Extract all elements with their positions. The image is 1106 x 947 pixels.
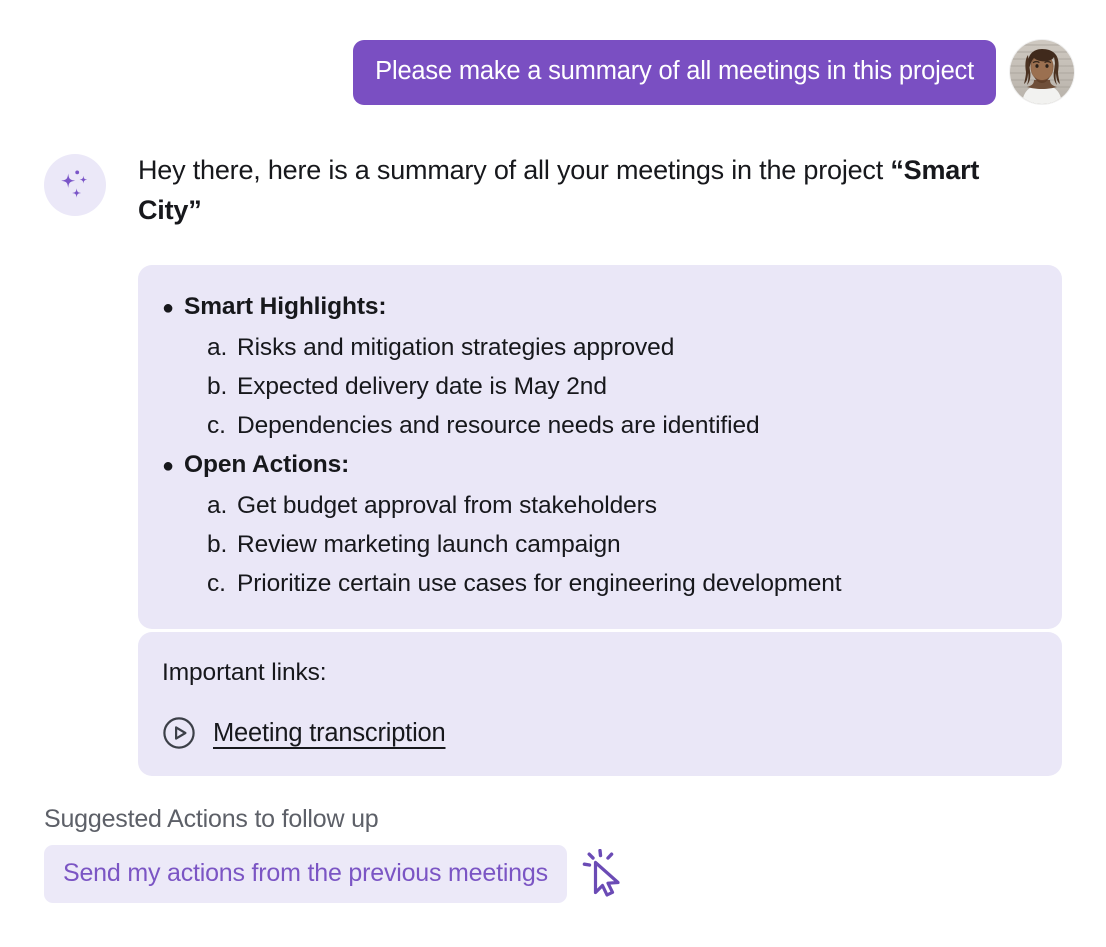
bullet-icon: ● <box>162 289 184 328</box>
list-item: c.Dependencies and resource needs are id… <box>162 406 1038 445</box>
list-item-text: Prioritize certain use cases for enginee… <box>237 564 842 603</box>
list-item: a.Risks and mitigation strategies approv… <box>162 328 1038 367</box>
list-item-marker: a. <box>207 328 237 367</box>
assistant-greeting-text: Hey there, here is a summary of all your… <box>138 150 998 230</box>
list-item: b.Expected delivery date is May 2nd <box>162 367 1038 406</box>
summary-sub-list: a.Risks and mitigation strategies approv… <box>162 328 1038 445</box>
summary-group-heading: ●Smart Highlights: <box>162 287 1038 328</box>
play-circle-icon <box>162 716 196 750</box>
list-item-marker: c. <box>207 564 237 603</box>
meeting-transcription-label: Meeting transcription <box>213 718 446 748</box>
summary-group: ●Smart Highlights:a.Risks and mitigation… <box>162 287 1038 445</box>
list-item-marker: c. <box>207 406 237 445</box>
user-message-row: Please make a summary of all meetings in… <box>0 40 1106 105</box>
avatar[interactable] <box>1010 40 1074 104</box>
list-item: b.Review marketing launch campaign <box>162 525 1038 564</box>
summary-group-list: ●Smart Highlights:a.Risks and mitigation… <box>162 287 1038 603</box>
important-links-card: Important links: Meeting transcription <box>138 632 1062 776</box>
important-links-title: Important links: <box>162 656 1038 690</box>
assistant-greeting-row: Hey there, here is a summary of all your… <box>44 150 1064 230</box>
list-item-text: Review marketing launch campaign <box>237 525 621 564</box>
meeting-transcription-link[interactable]: Meeting transcription <box>162 716 1038 750</box>
greeting-prefix: Hey there, here is a summary of all your… <box>138 155 890 185</box>
suggested-action-chip[interactable]: Send my actions from the previous meetin… <box>44 845 567 903</box>
suggested-actions-label: Suggested Actions to follow up <box>44 802 379 836</box>
list-item-marker: b. <box>207 367 237 406</box>
summary-sub-list: a.Get budget approval from stakeholdersb… <box>162 486 1038 603</box>
list-item-text: Risks and mitigation strategies approved <box>237 328 674 367</box>
list-item-text: Expected delivery date is May 2nd <box>237 367 607 406</box>
sparkles-icon <box>44 154 106 216</box>
list-item: c.Prioritize certain use cases for engin… <box>162 564 1038 603</box>
summary-card: ●Smart Highlights:a.Risks and mitigation… <box>138 265 1062 629</box>
user-message-bubble: Please make a summary of all meetings in… <box>353 40 996 105</box>
list-item-marker: a. <box>207 486 237 525</box>
list-item-text: Dependencies and resource needs are iden… <box>237 406 760 445</box>
avatar-photo <box>1010 40 1074 104</box>
summary-group-heading: ●Open Actions: <box>162 445 1038 486</box>
summary-group-title: Smart Highlights: <box>184 287 386 326</box>
bullet-icon: ● <box>162 447 184 486</box>
summary-group: ●Open Actions:a.Get budget approval from… <box>162 445 1038 603</box>
list-item-text: Get budget approval from stakeholders <box>237 486 657 525</box>
summary-group-title: Open Actions: <box>184 445 349 484</box>
list-item-marker: b. <box>207 525 237 564</box>
suggested-actions-row: Send my actions from the previous meetin… <box>44 845 627 903</box>
list-item: a.Get budget approval from stakeholders <box>162 486 1038 525</box>
click-cursor-icon <box>581 849 627 899</box>
